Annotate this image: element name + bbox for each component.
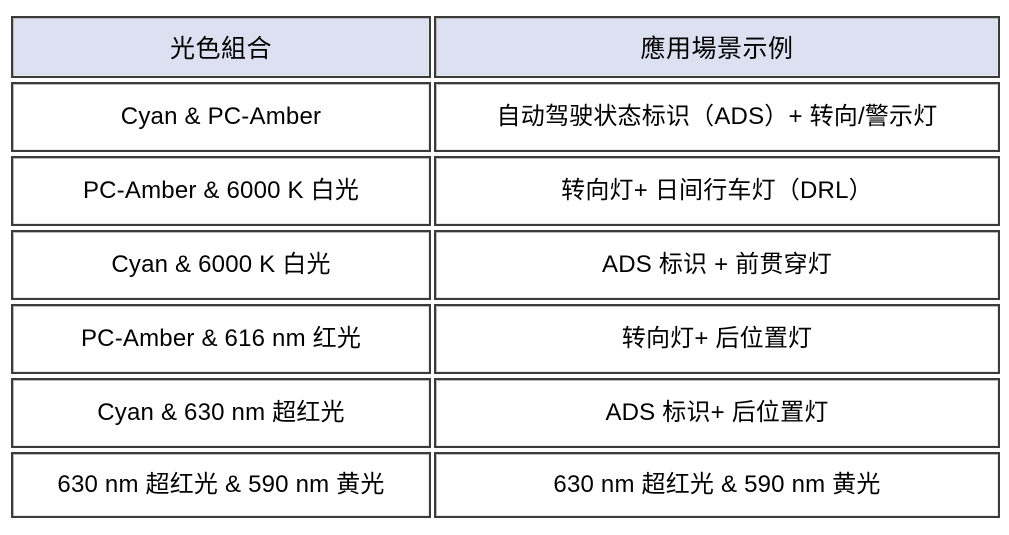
cell-application-text: 转向灯+ 日间行车灯（DRL） xyxy=(436,176,998,206)
cell-combination-text: Cyan & 6000 K 白光 xyxy=(13,250,429,280)
cell-combination: Cyan & 6000 K 白光 xyxy=(11,230,431,300)
light-color-combination-table-container: 光色組合 應用場景示例 Cyan & PC-Amber 自动驾驶状态标识（ADS… xyxy=(8,12,1000,524)
table-body: Cyan & PC-Amber 自动驾驶状态标识（ADS）+ 转向/警示灯 PC… xyxy=(11,82,1000,518)
cell-combination: Cyan & PC-Amber xyxy=(11,82,431,152)
table-row: Cyan & 6000 K 白光 ADS 标识 + 前贯穿灯 xyxy=(11,230,1000,300)
table-row: PC-Amber & 6000 K 白光 转向灯+ 日间行车灯（DRL） xyxy=(11,156,1000,226)
column-header-light-color-combination-label: 光色組合 xyxy=(13,29,429,65)
cell-combination-text: Cyan & 630 nm 超红光 xyxy=(13,398,429,428)
cell-combination: Cyan & 630 nm 超红光 xyxy=(11,378,431,448)
cell-application-text: 630 nm 超红光 & 590 nm 黄光 xyxy=(436,470,998,500)
cell-combination: PC-Amber & 6000 K 白光 xyxy=(11,156,431,226)
cell-combination: PC-Amber & 616 nm 红光 xyxy=(11,304,431,374)
table-row: PC-Amber & 616 nm 红光 转向灯+ 后位置灯 xyxy=(11,304,1000,374)
cell-application: 转向灯+ 后位置灯 xyxy=(434,304,1000,374)
cell-application: ADS 标识 + 前贯穿灯 xyxy=(434,230,1000,300)
column-header-application-scenario-label: 應用場景示例 xyxy=(436,29,998,65)
cell-application: ADS 标识+ 后位置灯 xyxy=(434,378,1000,448)
cell-combination-text: PC-Amber & 6000 K 白光 xyxy=(13,176,429,206)
cell-application-text: ADS 标识 + 前贯穿灯 xyxy=(436,250,998,280)
table-row: 630 nm 超红光 & 590 nm 黄光 630 nm 超红光 & 590 … xyxy=(11,452,1000,518)
table-row: Cyan & PC-Amber 自动驾驶状态标识（ADS）+ 转向/警示灯 xyxy=(11,82,1000,152)
cell-application: 转向灯+ 日间行车灯（DRL） xyxy=(434,156,1000,226)
column-header-application-scenario: 應用場景示例 xyxy=(434,16,1000,78)
cell-combination-text: PC-Amber & 616 nm 红光 xyxy=(13,324,429,354)
cell-application-text: ADS 标识+ 后位置灯 xyxy=(436,398,998,428)
cell-application-text: 转向灯+ 后位置灯 xyxy=(436,324,998,354)
cell-application: 自动驾驶状态标识（ADS）+ 转向/警示灯 xyxy=(434,82,1000,152)
table-header: 光色組合 應用場景示例 xyxy=(11,16,1000,78)
table-row: Cyan & 630 nm 超红光 ADS 标识+ 后位置灯 xyxy=(11,378,1000,448)
cell-application-text: 自动驾驶状态标识（ADS）+ 转向/警示灯 xyxy=(436,102,998,132)
cell-combination-text: 630 nm 超红光 & 590 nm 黄光 xyxy=(13,470,429,500)
column-header-light-color-combination: 光色組合 xyxy=(11,16,431,78)
cell-combination: 630 nm 超红光 & 590 nm 黄光 xyxy=(11,452,431,518)
table-header-row: 光色組合 應用場景示例 xyxy=(11,16,1000,78)
cell-application: 630 nm 超红光 & 590 nm 黄光 xyxy=(434,452,1000,518)
light-color-combination-table: 光色組合 應用場景示例 Cyan & PC-Amber 自动驾驶状态标识（ADS… xyxy=(8,12,1003,522)
cell-combination-text: Cyan & PC-Amber xyxy=(13,102,429,132)
